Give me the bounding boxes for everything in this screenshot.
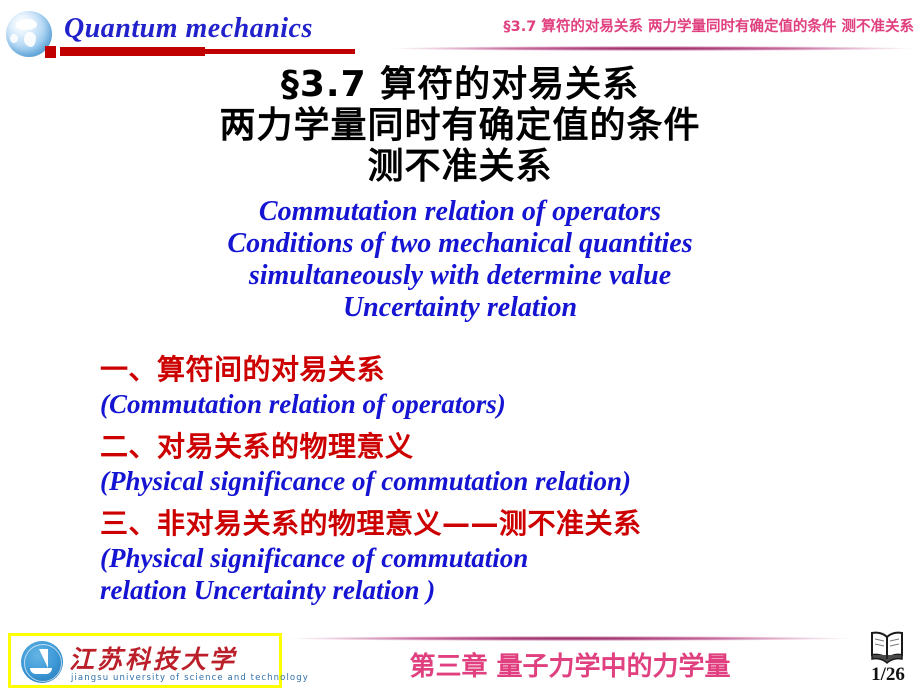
outline-item-1-en: (Commutation relation of operators) [100, 388, 900, 420]
slide-title-block: §3.7 算符的对易关系 两力学量同时有确定值的条件 测不准关系 [0, 64, 920, 187]
footer-chapter-label: 第三章 量子力学中的力学量 [300, 646, 840, 683]
open-book-icon [866, 630, 908, 664]
globe-icon [4, 10, 58, 60]
sailboat-seal-icon [21, 641, 63, 683]
university-name-cn: 江苏科技大学 [69, 640, 237, 676]
header-subject-line: §3.7 算符的对易关系 两力学量同时有确定值的条件 测不准关系 [503, 15, 914, 36]
outline-item-3-en-line-2: relation Uncertainty relation ) [100, 574, 900, 606]
outline-item-1: 一、算符间的对易关系 (Commutation relation of oper… [100, 352, 900, 420]
university-name-en: jiangsu university of science and techno… [71, 673, 309, 683]
subtitle-line-2: Conditions of two mechanical quantities [0, 228, 920, 260]
slide-footer: 江苏科技大学 jiangsu university of science and… [0, 628, 920, 690]
outline-item-2-cn: 二、对易关系的物理意义 [100, 429, 900, 465]
subtitle-line-3: simultaneously with determine value [0, 260, 920, 292]
university-logo: 江苏科技大学 jiangsu university of science and… [8, 633, 282, 688]
outline-item-2-en: (Physical significance of commutation re… [100, 465, 900, 497]
footer-divider-rule [286, 636, 852, 641]
outline-item-1-cn: 一、算符间的对易关系 [100, 352, 900, 388]
brand-underline-thick [60, 47, 205, 56]
globe-landmass-west [10, 34, 18, 43]
seal-hull-shape [30, 668, 52, 674]
globe-red-square-accent [45, 46, 56, 58]
title-line-1: §3.7 算符的对易关系 [0, 64, 920, 105]
slide-subtitle-block: Commutation relation of operators Condit… [0, 196, 920, 324]
outline-items: 一、算符间的对易关系 (Commutation relation of oper… [100, 352, 900, 615]
page-number: 1/26 [862, 664, 914, 686]
outline-item-2: 二、对易关系的物理意义 (Physical significance of co… [100, 429, 900, 497]
brand-title: Quantum mechanics [64, 13, 313, 45]
slide-header: Quantum mechanics §3.7 算符的对易关系 两力学量同时有确定… [0, 0, 920, 62]
brand-underline-thin [205, 49, 355, 54]
title-line-2: 两力学量同时有确定值的条件 [0, 105, 920, 146]
header-divider-rule [390, 46, 914, 51]
subtitle-line-1: Commutation relation of operators [0, 196, 920, 228]
outline-item-3: 三、非对易关系的物理意义——测不准关系 (Physical significan… [100, 506, 900, 606]
outline-item-3-cn: 三、非对易关系的物理意义——测不准关系 [100, 506, 900, 542]
slide-canvas: Quantum mechanics §3.7 算符的对易关系 两力学量同时有确定… [0, 0, 920, 690]
seal-sail-shape [35, 649, 48, 668]
globe-landmass-south [24, 32, 36, 47]
globe-landmass-north [16, 19, 37, 30]
subtitle-line-4: Uncertainty relation [0, 292, 920, 324]
outline-item-3-en-line-1: (Physical significance of commutation [100, 542, 900, 574]
title-line-3: 测不准关系 [0, 146, 920, 187]
